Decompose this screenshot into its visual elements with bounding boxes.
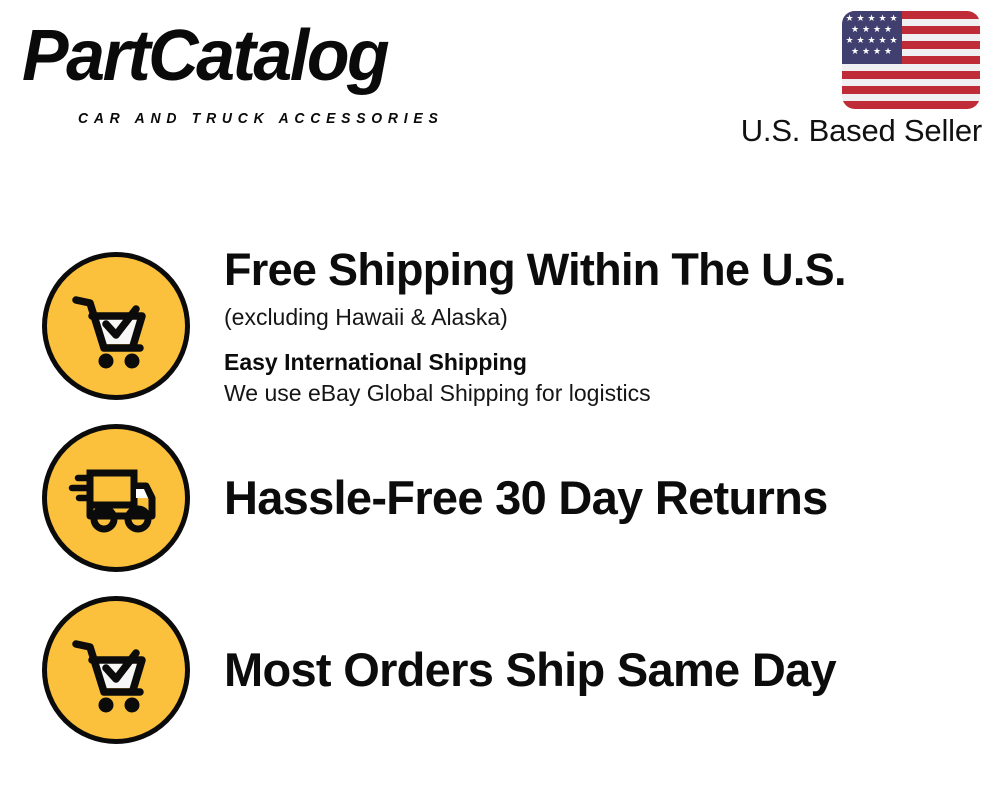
flag-stripe (842, 101, 980, 109)
brand-wordmark: PartCatalog (22, 18, 387, 94)
seller-label: U.S. Based Seller (741, 112, 982, 150)
shopping-cart-check-icon (42, 596, 190, 744)
feature-subtitle: (excluding Hawaii & Alaska) (224, 301, 980, 333)
feature-row: Hassle-Free 30 Day Returns (0, 412, 1000, 584)
feature-text: Free Shipping Within The U.S. (excluding… (224, 244, 1000, 409)
flag-canton (842, 11, 902, 64)
page-header: PartCatalog CAR AND TRUCK ACCESSORIES (0, 0, 1000, 180)
feature-row: Most Orders Ship Same Day (0, 584, 1000, 756)
feature-title: Most Orders Ship Same Day (224, 644, 980, 696)
feature-row: Free Shipping Within The U.S. (excluding… (0, 240, 1000, 412)
feature-list: Free Shipping Within The U.S. (excluding… (0, 180, 1000, 800)
brand-logo[interactable]: PartCatalog CAR AND TRUCK ACCESSORIES (22, 22, 492, 118)
brand-tagline: CAR AND TRUCK ACCESSORIES (78, 110, 444, 127)
flag-stripe (842, 86, 980, 94)
us-based-seller-badge: U.S. Based Seller (712, 8, 982, 158)
delivery-truck-icon (42, 424, 190, 572)
feature-title: Hassle-Free 30 Day Returns (224, 472, 980, 524)
feature-subtitle-strong: Easy International Shipping (224, 347, 980, 377)
feature-text: Hassle-Free 30 Day Returns (224, 472, 1000, 524)
feature-title: Free Shipping Within The U.S. (224, 244, 980, 296)
flag-stripe (842, 94, 980, 102)
flag-stripe (842, 71, 980, 79)
flag-stripe (842, 64, 980, 72)
flag-stripe (842, 79, 980, 87)
feature-text: Most Orders Ship Same Day (224, 644, 1000, 696)
feature-subtitle-note: We use eBay Global Shipping for logistic… (224, 378, 980, 409)
us-flag-icon (842, 11, 980, 109)
shopping-cart-check-icon (42, 252, 190, 400)
